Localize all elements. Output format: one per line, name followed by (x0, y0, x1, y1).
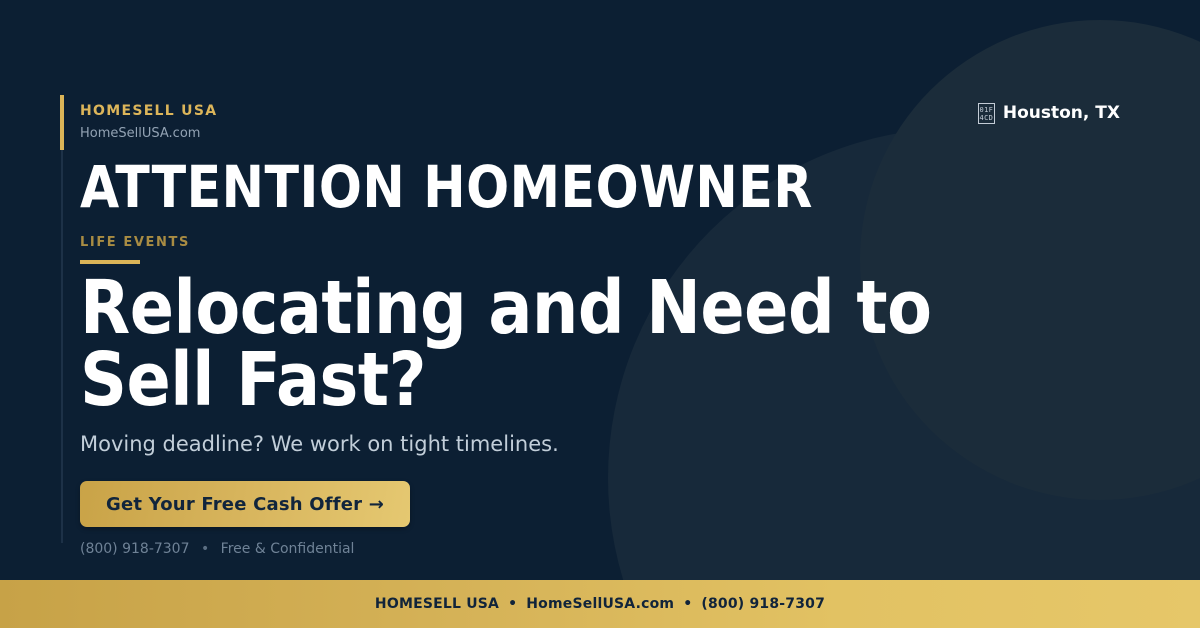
location-label: Houston, TX (1003, 105, 1120, 122)
location-pin-icon-codepoint-bottom: 4CD (979, 114, 993, 122)
page-title: Relocating and Need to Sell Fast? (80, 272, 962, 416)
brand-website: HomeSellUSA.com (80, 127, 217, 140)
promo-banner: HOMESELL USA HomeSellUSA.com 01F 4CD Hou… (0, 0, 1200, 628)
fineprint-separator: • (194, 541, 216, 557)
fineprint: (800) 918-7307 • Free & Confidential (80, 542, 354, 556)
eyebrow-underline (80, 260, 140, 264)
footer-content: HOMESELL USA • HomeSellUSA.com • (800) 9… (375, 596, 825, 612)
fineprint-phone: (800) 918-7307 (80, 541, 190, 557)
eyebrow-label: LIFE EVENTS (80, 236, 190, 249)
fineprint-note: Free & Confidential (221, 541, 355, 557)
location-pin-icon-codepoint-top: 01F (979, 106, 993, 114)
subheadline: Moving deadline? We work on tight timeli… (80, 434, 559, 455)
footer-website: HomeSellUSA.com (526, 596, 674, 612)
footer-phone: (800) 918-7307 (701, 596, 825, 612)
footer-brand: HOMESELL USA (375, 596, 499, 612)
attention-headline: ATTENTION HOMEOWNER (80, 156, 813, 218)
accent-rule-gold-segment (60, 95, 64, 150)
brand-name: HOMESELL USA (80, 104, 217, 118)
footer-bar: HOMESELL USA • HomeSellUSA.com • (800) 9… (0, 580, 1200, 628)
location-badge: 01F 4CD Houston, TX (978, 103, 1120, 124)
get-free-cash-offer-button[interactable]: Get Your Free Cash Offer → (80, 481, 410, 527)
footer-separator-1: • (499, 596, 526, 612)
brand-block: HOMESELL USA HomeSellUSA.com (80, 104, 217, 140)
eyebrow-block: LIFE EVENTS (80, 236, 190, 264)
left-accent-rule (60, 95, 64, 543)
accent-rule-dim-segment (61, 150, 63, 543)
banner-content: HOMESELL USA HomeSellUSA.com 01F 4CD Hou… (80, 0, 1120, 580)
footer-separator-2: • (674, 596, 701, 612)
location-pin-icon: 01F 4CD (978, 103, 995, 124)
